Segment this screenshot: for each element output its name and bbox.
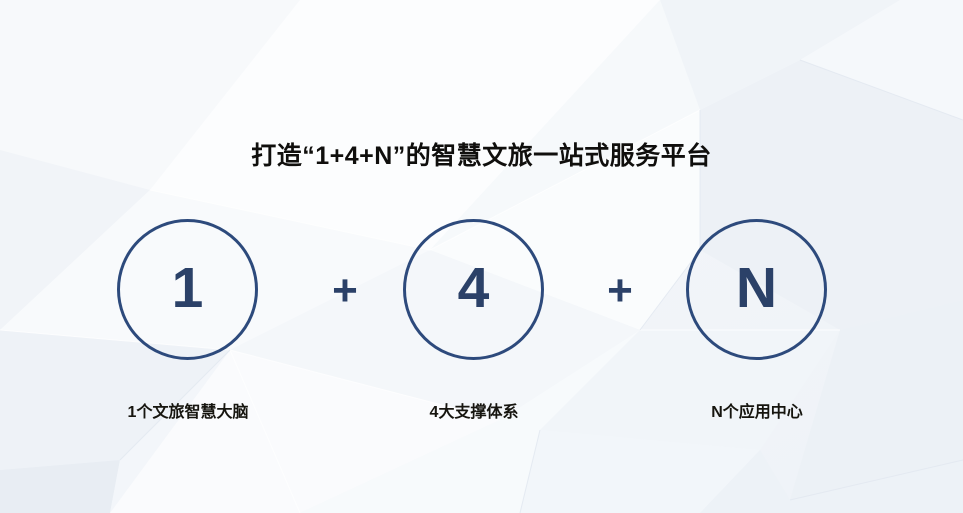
- node-caption-2: 4大支撑体系: [344, 398, 604, 422]
- node-caption-3: N个应用中心: [627, 398, 887, 422]
- page-title: 打造“1+4+N”的智慧文旅一站式服务平台: [0, 136, 963, 172]
- slide-canvas: 打造“1+4+N”的智慧文旅一站式服务平台 1 + 4 + N 1个文旅智慧大脑…: [0, 0, 963, 513]
- diagram-node-circle-3: N: [686, 219, 827, 360]
- node-glyph-3: N: [736, 260, 777, 317]
- node-glyph-2: 4: [458, 260, 490, 317]
- node-glyph-1: 1: [172, 260, 204, 317]
- node-caption-1: 1个文旅智慧大脑: [58, 398, 318, 422]
- plus-operator-icon-2: +: [597, 268, 643, 314]
- plus-operator-icon-1: +: [322, 268, 368, 314]
- diagram-node-circle-2: 4: [403, 219, 544, 360]
- diagram-node-circle-1: 1: [117, 219, 258, 360]
